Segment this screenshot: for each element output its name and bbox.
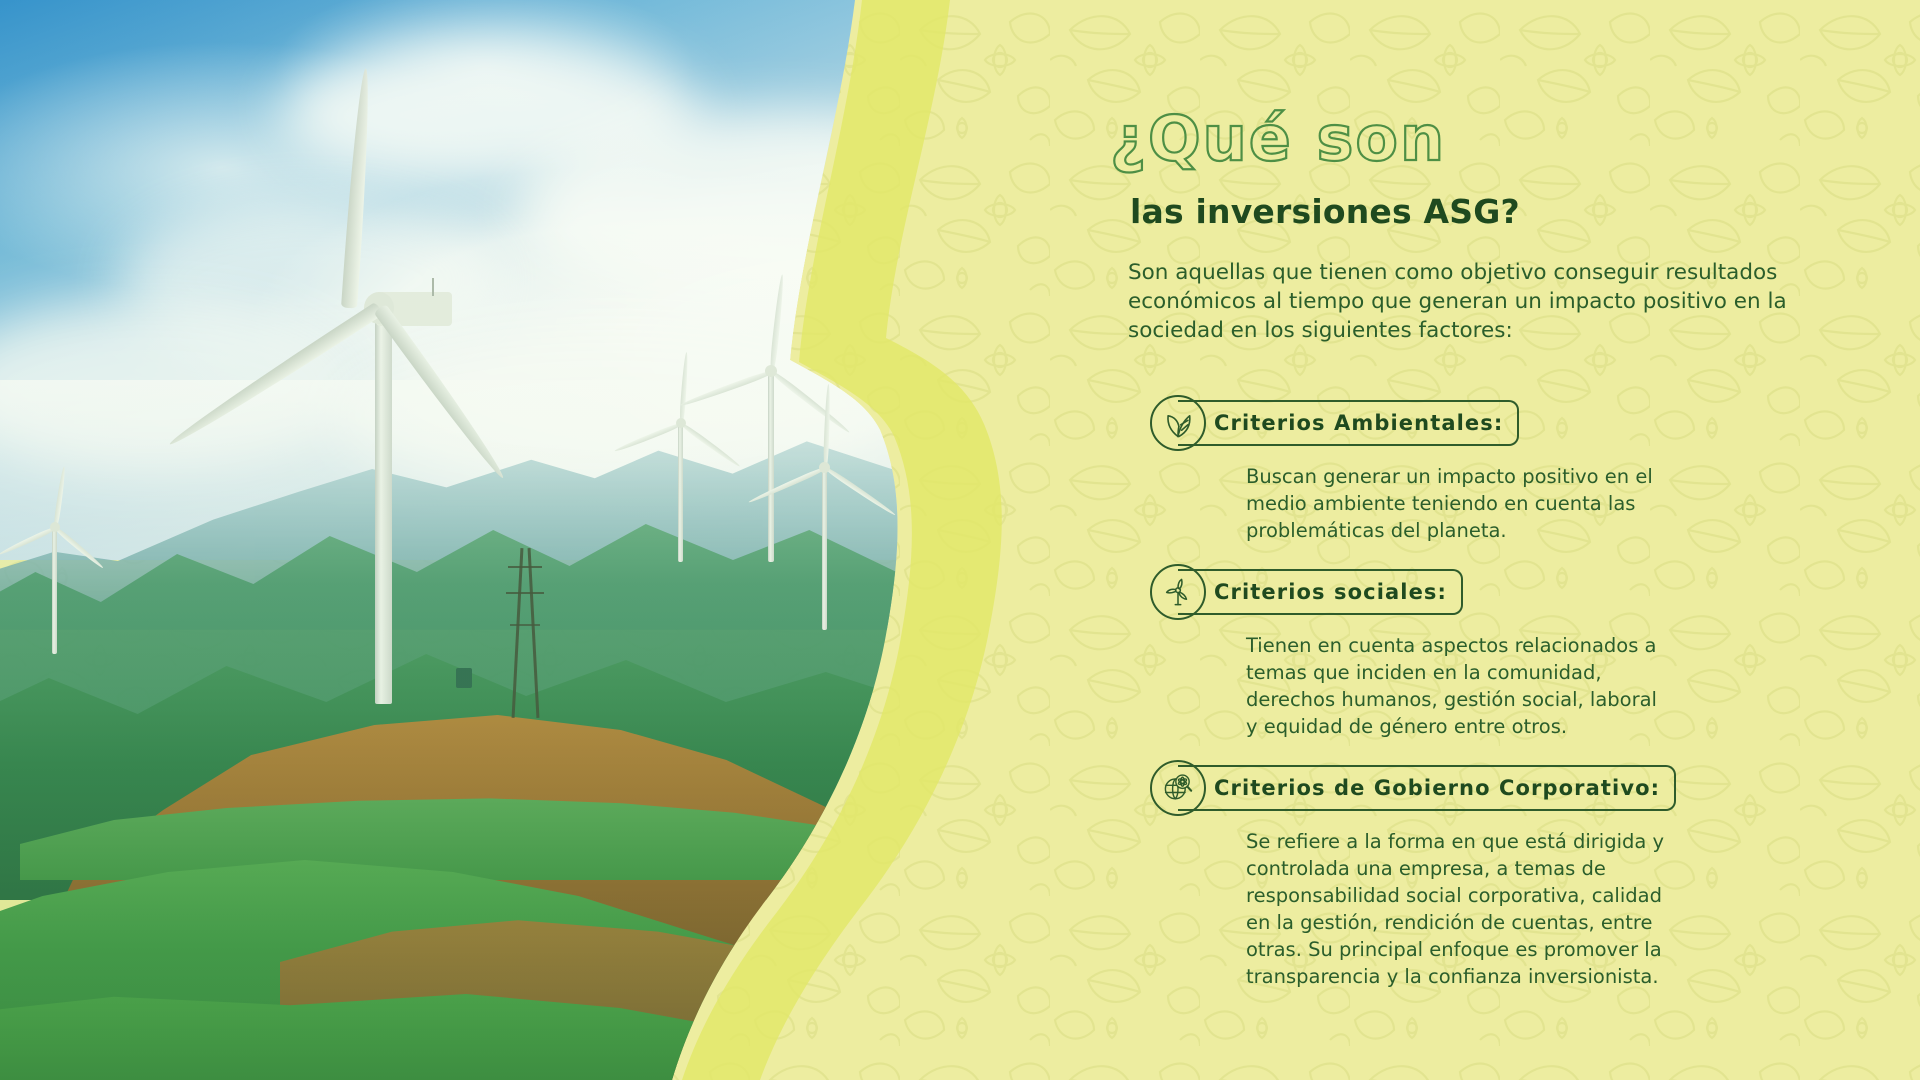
- criteria-label: Criterios de Gobierno Corporativo:: [1214, 776, 1660, 800]
- background-wind-turbine: [10, 500, 100, 650]
- criteria-header[interactable]: Criterios sociales:: [1150, 564, 1910, 620]
- criteria-icon-circle: [1150, 395, 1206, 451]
- page-title-outline: ¿Qué son: [1110, 102, 1446, 175]
- wind-turbine-icon: [1160, 574, 1196, 610]
- background-wind-turbine: [774, 430, 874, 630]
- criteria-label-pill[interactable]: Criterios sociales:: [1178, 569, 1463, 615]
- criteria-icon-circle: [1150, 760, 1206, 816]
- criteria-header[interactable]: Criterios Ambientales:: [1150, 395, 1910, 451]
- criteria-item-gobierno-corporativo: Criterios de Gobierno Corporativo:: [1150, 760, 1910, 990]
- globe-magnifier-icon: [1160, 770, 1196, 806]
- criteria-item-sociales: Criterios sociales:: [1150, 564, 1910, 740]
- background-wind-turbine: [636, 392, 726, 562]
- criteria-description: Tienen en cuenta aspectos relacionados a…: [1246, 632, 1666, 740]
- criteria-header[interactable]: Criterios de Gobierno Corporativo:: [1150, 760, 1910, 816]
- criteria-label-pill[interactable]: Criterios Ambientales:: [1178, 400, 1519, 446]
- criteria-label-pill[interactable]: Criterios de Gobierno Corporativo:: [1178, 765, 1676, 811]
- leaves-icon: [1160, 405, 1196, 441]
- page-title-solid: las inversiones ASG?: [1130, 192, 1520, 231]
- criteria-icon-circle: [1150, 564, 1206, 620]
- intro-paragraph: Son aquellas que tienen como objetivo co…: [1128, 258, 1818, 345]
- infographic-canvas: ¿Qué son las inversiones ASG? Son aquell…: [0, 0, 1920, 1080]
- criteria-description: Buscan generar un impacto positivo en el…: [1246, 463, 1676, 544]
- main-wind-turbine: [236, 56, 536, 696]
- criteria-label: Criterios sociales:: [1214, 580, 1447, 604]
- content-panel: ¿Qué son las inversiones ASG? Son aquell…: [1120, 0, 1920, 1080]
- criteria-description: Se refiere a la forma en que está dirigi…: [1246, 828, 1666, 990]
- criteria-list: Criterios Ambientales:: [1150, 395, 1910, 1010]
- criteria-item-ambientales: Criterios Ambientales:: [1150, 395, 1910, 544]
- criteria-label: Criterios Ambientales:: [1214, 411, 1503, 435]
